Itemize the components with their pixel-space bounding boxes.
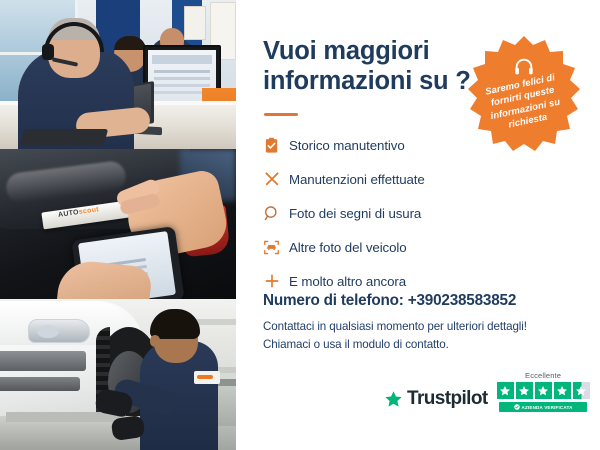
page-title: Vuoi maggiori informazioni su ?	[263, 36, 493, 96]
vehicle-inspection-photo: AUTOscout	[0, 149, 236, 299]
wall-board-paper	[184, 6, 206, 40]
star-filled	[535, 382, 552, 399]
list-item[interactable]: Manutenzioni effettuate	[263, 165, 543, 193]
plus-icon	[263, 272, 289, 290]
page-title-line2: informazioni su ?	[263, 67, 471, 95]
list-item[interactable]: E molto altro ancora	[263, 267, 543, 295]
call-center-agents-photo	[0, 0, 236, 149]
uniform-logo	[194, 371, 220, 384]
trustpilot-stars	[497, 382, 590, 399]
desk-tablet	[20, 129, 109, 145]
list-item-label: E molto altro ancora	[289, 274, 406, 289]
contact-subtext-line1: Contattaci in qualsiasi momento per ulte…	[263, 320, 527, 333]
car-grille-lower	[0, 377, 80, 391]
tire-inspection-photo	[0, 299, 236, 450]
info-panel: Vuoi maggiori informazioni su ? Saremo f…	[236, 0, 600, 450]
trustpilot-rating: Eccellente	[497, 371, 590, 412]
verified-business-badge: AZIENDA VERIFICATA	[499, 402, 587, 412]
list-item-label: Foto dei segni di usura	[289, 206, 421, 221]
list-item[interactable]: Altre foto del veicolo	[263, 233, 543, 261]
trustpilot-rating-label: Eccellente	[525, 371, 561, 380]
title-divider	[264, 113, 298, 116]
trustpilot-brand-text: Trustpilot	[407, 388, 488, 410]
verified-business-text: AZIENDA VERIFICATA	[522, 405, 573, 410]
clipboard-check-icon	[263, 137, 289, 154]
star-filled	[516, 382, 533, 399]
star-half	[573, 382, 590, 399]
list-item[interactable]: Foto dei segni di usura	[263, 199, 543, 227]
trustpilot-widget[interactable]: Trustpilot Eccellente	[384, 371, 590, 412]
car-headlight	[28, 319, 90, 343]
car-grille-upper	[0, 351, 86, 371]
list-item[interactable]: Storico manutentivo	[263, 131, 543, 159]
mechanic-ear	[150, 335, 160, 347]
star-filled	[554, 382, 571, 399]
tools-cross-icon	[263, 170, 289, 188]
photo-column: AUTOscout	[0, 0, 236, 450]
advert-panel: AUTOscout	[0, 0, 600, 450]
list-item-label: Altre foto del veicolo	[289, 240, 407, 255]
list-item-label: Storico manutentivo	[289, 138, 405, 153]
star-filled	[497, 382, 514, 399]
feature-list: Storico manutentivo Manutenzioni effettu…	[263, 131, 543, 301]
list-item-label: Manutenzioni effettuate	[289, 172, 425, 187]
phone-line[interactable]: Numero di telefono: +390238583852	[263, 292, 516, 310]
car-scan-icon	[263, 239, 289, 256]
phone-label: Numero di telefono:	[263, 292, 404, 309]
phone-number[interactable]: +390238583852	[408, 292, 516, 309]
verified-check-icon	[514, 404, 520, 410]
trustpilot-star-icon	[384, 390, 403, 409]
trustpilot-logo: Trustpilot	[384, 388, 488, 412]
page-title-line1: Vuoi maggiori	[263, 37, 429, 65]
magnifier-icon	[263, 205, 289, 222]
contact-subtext-line2: Chiamaci o usa il modulo di contatto.	[263, 338, 449, 351]
